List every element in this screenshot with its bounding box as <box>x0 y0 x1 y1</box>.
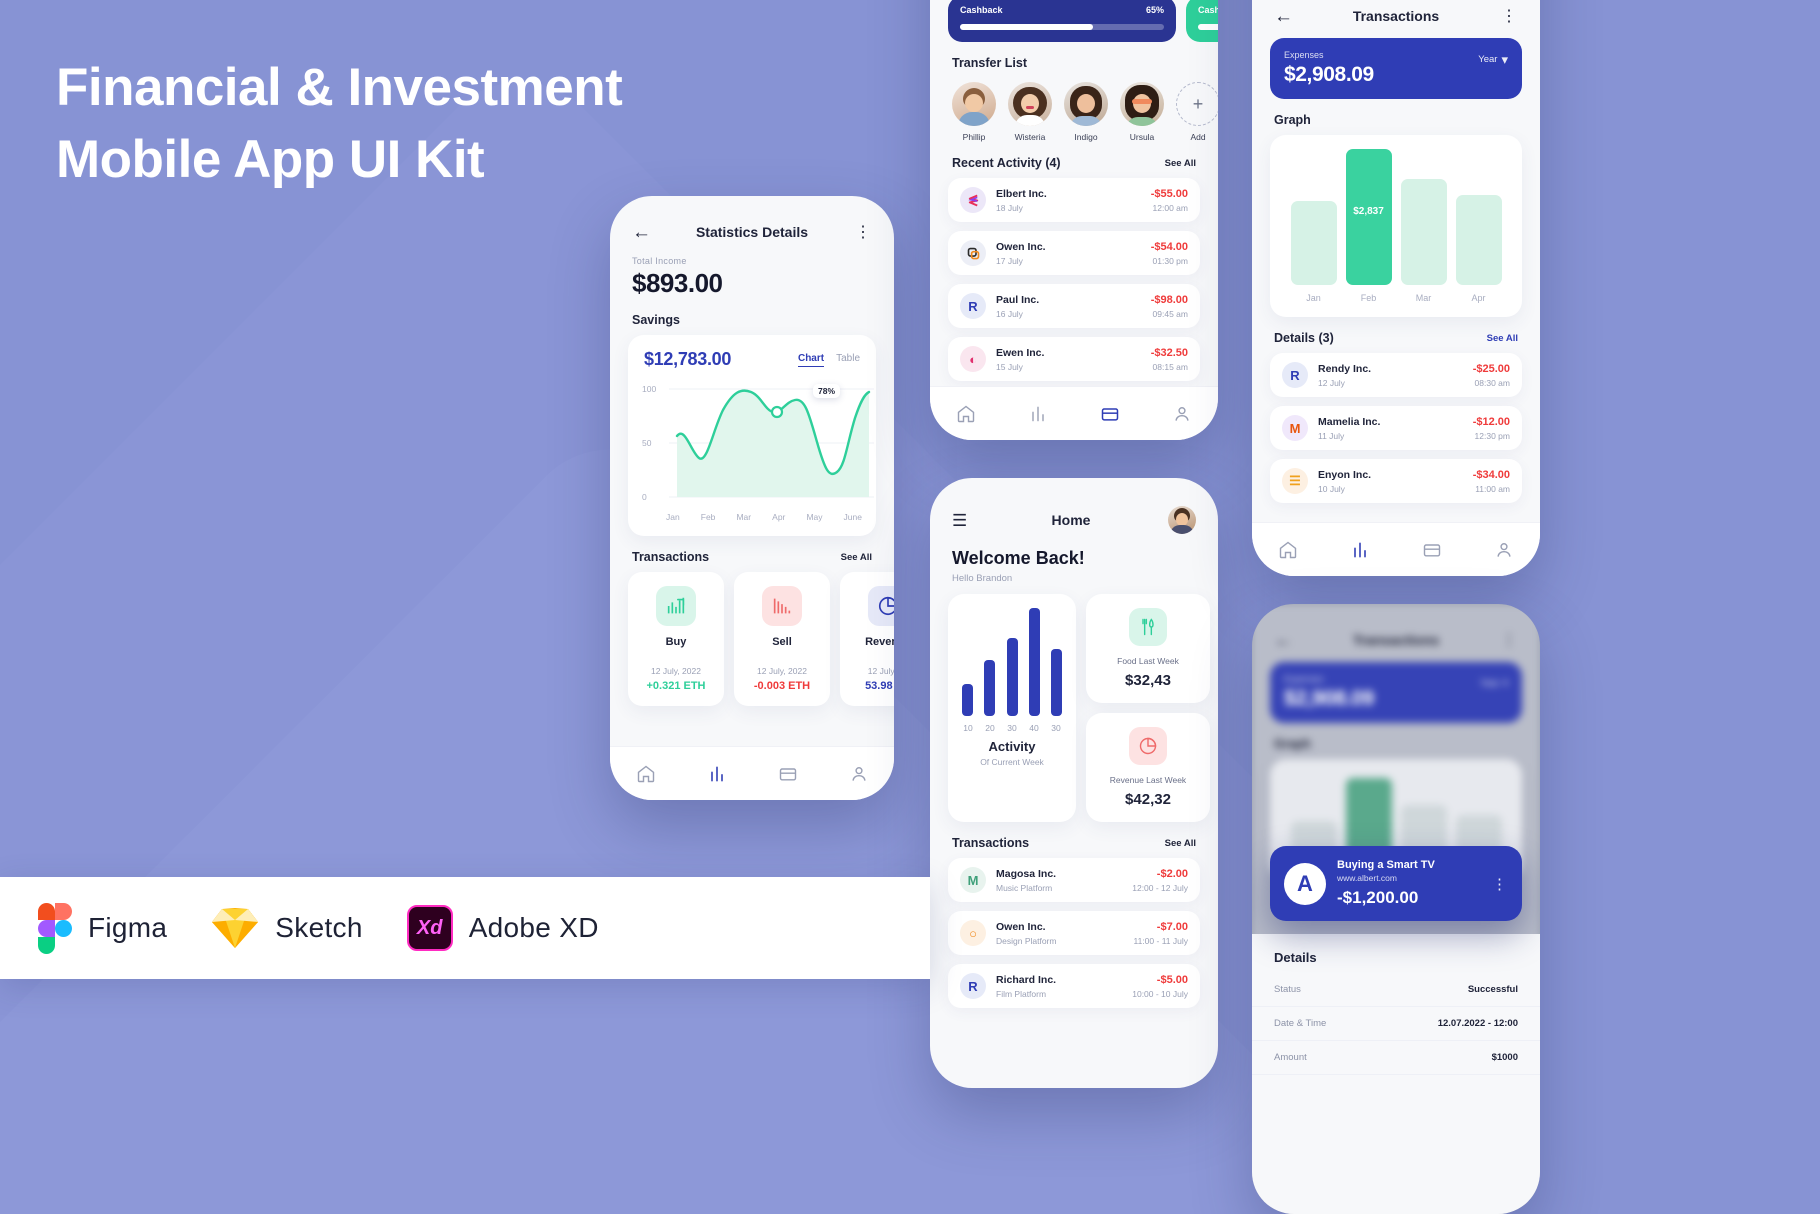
home-cards: 10 20 30 40 30 Activity Of Current Week <box>930 584 1218 822</box>
transaction-platform: Design Platform <box>996 936 1124 946</box>
activity-name: Paul Inc. <box>996 294 1141 306</box>
card-icon[interactable] <box>1100 404 1120 424</box>
transfer-contacts: Phillip Wisteria Indigo <box>930 78 1218 142</box>
food-amount: $32,43 <box>1094 672 1202 689</box>
transaction-amount: -$2.00 <box>1132 868 1188 880</box>
avatar-woman-3 <box>1120 82 1164 126</box>
activity-name: Owen Inc. <box>996 241 1141 253</box>
activity-row[interactable]: R Paul Inc. 16 July -$98.00 09:45 am <box>948 284 1200 328</box>
transaction-value: -0.003 ETH <box>742 680 822 692</box>
period-selector[interactable]: Year▾ <box>1480 678 1508 689</box>
graph-label: Graph <box>1252 99 1540 135</box>
detail-row[interactable]: ☰ Enyon Inc. 10 July -$34.00 11:00 am <box>1270 459 1522 503</box>
activity-time: 12:00 am <box>1151 203 1188 213</box>
profile-icon[interactable] <box>1172 404 1192 424</box>
graph-label: Graph <box>1252 723 1540 759</box>
card-icon[interactable] <box>1422 540 1442 560</box>
expenses-label: Expenses <box>1284 50 1478 60</box>
activity-date: 18 July <box>996 203 1141 213</box>
magosa-logo: M <box>960 867 986 893</box>
stats-icon[interactable] <box>1028 404 1048 424</box>
transaction-date: 12 July, 2022 <box>636 666 716 676</box>
detail-date: 11 July <box>1318 431 1463 441</box>
tab-table[interactable]: Table <box>836 353 860 364</box>
y-tick-50: 50 <box>642 438 651 448</box>
contact-name: Add <box>1176 132 1218 142</box>
activity-bar-chart <box>958 608 1066 716</box>
bottom-nav[interactable] <box>610 746 894 800</box>
cutlery-icon <box>1129 608 1167 646</box>
x-label: 30 <box>1048 723 1064 733</box>
enyon-logo: ☰ <box>1282 468 1308 494</box>
transaction-platform: Film Platform <box>996 989 1122 999</box>
graph-card: $2,837 Jan Feb Mar Apr <box>1270 135 1522 317</box>
activity-amount: -$54.00 <box>1151 241 1188 253</box>
bar-mar <box>1401 179 1447 285</box>
x-tick-apr: Apr <box>1456 293 1502 303</box>
welcome-subtitle: Hello Brandon <box>930 569 1218 584</box>
period-label: Year <box>1478 54 1497 65</box>
chart-tabs[interactable]: Chart Table <box>798 353 860 367</box>
phone-home: ☰ Home Welcome Back! Hello Brandon 10 20… <box>930 478 1218 1088</box>
field-key: Date & Time <box>1274 1018 1438 1029</box>
bar-jan <box>1291 201 1337 285</box>
field-value: 12.07.2022 - 12:00 <box>1438 1018 1518 1029</box>
cashback-label: Cashback <box>960 5 1003 15</box>
activity-date: 17 July <box>996 256 1141 266</box>
x-tick-apr: Apr <box>772 512 785 522</box>
transaction-card-buy[interactable]: Buy 12 July, 2022 +0.321 ETH <box>628 572 724 706</box>
revenue-card[interactable]: Revenue Last Week $42,32 <box>1086 713 1210 822</box>
menu-icon[interactable]: ⋮ <box>1496 630 1518 650</box>
hero-line-1: Financial & Investment <box>56 52 622 124</box>
detail-field-row: Date & Time 12.07.2022 - 12:00 <box>1252 1007 1540 1041</box>
see-all-link[interactable]: See All <box>1487 333 1518 344</box>
profile-icon[interactable] <box>1494 540 1514 560</box>
transaction-name: Richard Inc. <box>996 974 1122 986</box>
transactions-header: Transactions See All <box>930 822 1218 858</box>
y-tick-0: 0 <box>642 492 647 502</box>
transaction-time: 10:00 - 10 July <box>1132 989 1188 999</box>
detail-amount: -$12.00 <box>1473 416 1510 428</box>
x-tick-may: May <box>806 512 822 522</box>
back-icon[interactable]: ← <box>1274 631 1296 650</box>
activity-subtitle: Of Current Week <box>958 757 1066 767</box>
chevron-down-icon: ▾ <box>1501 56 1508 64</box>
transaction-date: 12 July, 2022 <box>742 666 822 676</box>
cashback-banner-2[interactable]: Cashback <box>1186 0 1218 42</box>
menu-icon[interactable]: ⋮ <box>1492 875 1508 893</box>
avatar[interactable] <box>1168 506 1196 534</box>
detail-title: Buying a Smart TV <box>1337 859 1435 871</box>
transactions-header: Transactions See All <box>610 536 894 572</box>
richard-logo: R <box>960 973 986 999</box>
transactions-label: Transactions <box>632 550 841 564</box>
card-icon[interactable] <box>778 764 798 784</box>
transaction-cards: Buy 12 July, 2022 +0.321 ETH Sell 12 Jul… <box>610 572 894 706</box>
activity-time: 01:30 pm <box>1151 256 1188 266</box>
avatar-woman-1 <box>1008 82 1052 126</box>
detail-amount: -$25.00 <box>1473 363 1510 375</box>
stats-icon[interactable] <box>707 764 727 784</box>
food-card[interactable]: Food Last Week $32,43 <box>1086 594 1210 703</box>
rendy-logo: R <box>1282 362 1308 388</box>
recent-activity-label: Recent Activity (4) <box>952 156 1165 170</box>
transaction-name: Buy <box>636 636 716 648</box>
detail-date: 12 July <box>1318 378 1463 388</box>
expenses-label: Expenses <box>1284 674 1480 684</box>
savings-chart-card: $12,783.00 Chart Table 100 50 0 <box>628 335 876 536</box>
page-title: Statistics Details <box>654 224 850 240</box>
period-selector[interactable]: Year ▾ <box>1478 54 1508 65</box>
back-icon[interactable]: ← <box>632 223 654 242</box>
home-icon[interactable] <box>956 404 976 424</box>
contact-name: Indigo <box>1064 132 1108 142</box>
savings-value: $12,783.00 <box>644 349 798 370</box>
savings-label: Savings <box>610 299 894 335</box>
contact-phillip[interactable]: Phillip <box>952 82 996 142</box>
detail-sheet: Details Status Successful Date & Time 12… <box>1252 934 1540 1214</box>
food-label: Food Last Week <box>1094 656 1202 666</box>
detail-overlay-card[interactable]: A Buying a Smart TV www.albert.com -$1,2… <box>1270 846 1522 921</box>
cashback-banner[interactable]: Cashback 65% <box>948 0 1176 42</box>
mamelia-logo: M <box>1282 415 1308 441</box>
activity-amount: -$98.00 <box>1151 294 1188 306</box>
transaction-row[interactable]: ○ Owen Inc. Design Platform -$7.00 11:00… <box>948 911 1200 955</box>
menu-icon[interactable]: ⋮ <box>1496 6 1518 26</box>
cashback-percent: 65% <box>1146 5 1164 15</box>
activity-chart-card: 10 20 30 40 30 Activity Of Current Week <box>948 594 1076 822</box>
detail-time: 08:30 am <box>1473 378 1510 388</box>
bar-apr <box>1456 195 1502 285</box>
bar-value-label: $2,837 <box>1353 206 1384 217</box>
transaction-row[interactable]: R Richard Inc. Film Platform -$5.00 10:0… <box>948 964 1200 1008</box>
expenses-amount: $2,908.09 <box>1284 63 1478 87</box>
transfer-list-label: Transfer List <box>930 42 1218 78</box>
transaction-time: 12:00 - 12 July <box>1132 883 1188 893</box>
sketch-logo-icon <box>211 907 259 949</box>
transaction-time: 11:00 - 11 July <box>1134 936 1189 946</box>
add-contact-icon[interactable]: + <box>1176 82 1218 126</box>
detail-name: Enyon Inc. <box>1318 469 1463 481</box>
details-header: Details (3) See All <box>1252 317 1540 353</box>
phone-transfer-activity: Cashback 65% Cashback Transfer List Phil… <box>930 0 1218 440</box>
bar-chart-down-icon <box>762 586 802 626</box>
see-all-link[interactable]: See All <box>1165 158 1196 169</box>
detail-field-row: Status Successful <box>1252 973 1540 1007</box>
graph-x-axis: Jan Feb Mar Apr <box>1270 285 1522 317</box>
transaction-platform: Music Platform <box>996 883 1122 893</box>
adobe-xd-logo-icon: Xd <box>407 905 453 951</box>
x-tick-feb: Feb <box>1346 293 1392 303</box>
activity-name: Ewen Inc. <box>996 347 1141 359</box>
detail-row[interactable]: M Mamelia Inc. 11 July -$12.00 12:30 pm <box>1270 406 1522 450</box>
x-label: 40 <box>1026 723 1042 733</box>
transaction-name: Sell <box>742 636 822 648</box>
detail-amount: -$34.00 <box>1473 469 1510 481</box>
detail-row[interactable]: R Rendy Inc. 12 July -$25.00 08:30 am <box>1270 353 1522 397</box>
elbert-logo <box>960 187 986 213</box>
transaction-amount: -$5.00 <box>1132 974 1188 986</box>
transactions-header-bar: ← Transactions ⋮ <box>1252 0 1540 30</box>
pie-chart-icon <box>1129 727 1167 765</box>
contact-indigo[interactable]: Indigo <box>1064 82 1108 142</box>
pie-chart-icon <box>868 586 894 626</box>
total-income-label: Total Income <box>610 246 894 266</box>
phone-statistics-details: ← Statistics Details ⋮ Total Income $893… <box>610 196 894 800</box>
activity-title: Activity <box>958 739 1066 754</box>
field-value: $1000 <box>1492 1052 1518 1063</box>
brand-avatar: A <box>1284 863 1326 905</box>
activity-row[interactable]: Elbert Inc. 18 July -$55.00 12:00 am <box>948 178 1200 222</box>
menu-icon[interactable]: ⋮ <box>850 222 872 242</box>
avatar-man-1 <box>952 82 996 126</box>
savings-x-axis: Jan Feb Mar Apr May June <box>628 508 876 536</box>
transaction-name: Revenue <box>848 636 894 648</box>
details-label: Details <box>1252 934 1540 973</box>
contact-name: Ursula <box>1120 132 1164 142</box>
total-income-value: $893.00 <box>610 266 894 299</box>
field-key: Amount <box>1274 1052 1492 1063</box>
expenses-card-behind: Expenses $2,908.09 Year▾ <box>1270 662 1522 723</box>
phone-transactions: ← Transactions ⋮ Expenses $2,908.09 Year… <box>1252 0 1540 576</box>
x-tick-jan: Jan <box>666 512 680 522</box>
transaction-card-revenue[interactable]: Revenue 12 July, 20 53.98 US <box>840 572 894 706</box>
contact-wisteria[interactable]: Wisteria <box>1008 82 1052 142</box>
contact-ursula[interactable]: Ursula <box>1120 82 1164 142</box>
transaction-name: Magosa Inc. <box>996 868 1122 880</box>
field-value: Successful <box>1468 984 1518 995</box>
activity-name: Elbert Inc. <box>996 188 1141 200</box>
home-icon[interactable] <box>636 764 656 784</box>
bar-feb: $2,837 <box>1346 149 1392 285</box>
chart-tooltip: 78% <box>813 384 840 398</box>
tool-figma[interactable]: Figma <box>16 903 189 953</box>
recent-activity-header: Recent Activity (4) See All <box>930 142 1218 178</box>
page-title: Transactions <box>1296 8 1496 24</box>
detail-url: www.albert.com <box>1337 873 1435 883</box>
detail-amount: -$1,200.00 <box>1337 888 1435 908</box>
activity-date: 15 July <box>996 362 1141 372</box>
transactions-label: Transactions <box>952 836 1165 850</box>
stats-icon[interactable] <box>1350 540 1370 560</box>
see-all-link[interactable]: See All <box>1165 838 1196 849</box>
detail-date: 10 July <box>1318 484 1463 494</box>
savings-area-chart: 100 50 0 78% <box>636 380 868 508</box>
detail-name: Mamelia Inc. <box>1318 416 1463 428</box>
expenses-amount: $2,908.09 <box>1284 687 1480 711</box>
bottom-nav[interactable] <box>1252 522 1540 576</box>
activity-time: 09:45 am <box>1151 309 1188 319</box>
transaction-card-sell[interactable]: Sell 12 July, 2022 -0.003 ETH <box>734 572 830 706</box>
paul-logo: R <box>960 293 986 319</box>
transaction-date: 12 July, 20 <box>848 666 894 676</box>
tool-label: Adobe XD <box>469 912 599 944</box>
activity-row[interactable]: ◐ Ewen Inc. 15 July -$32.50 08:15 am <box>948 337 1200 381</box>
bar-chart-up-icon <box>656 586 696 626</box>
figma-logo-icon <box>38 903 72 953</box>
contact-add[interactable]: + Add <box>1176 82 1218 142</box>
hero-headline: Financial & Investment Mobile App UI Kit <box>56 52 622 196</box>
activity-time: 08:15 am <box>1151 362 1188 372</box>
transaction-value: 53.98 US <box>848 680 894 692</box>
activity-amount: -$32.50 <box>1151 347 1188 359</box>
revenue-label: Revenue Last Week <box>1094 775 1202 785</box>
field-key: Status <box>1274 984 1468 995</box>
detail-field-row: Amount $1000 <box>1252 1041 1540 1075</box>
x-tick-jan: Jan <box>1291 293 1337 303</box>
back-icon[interactable]: ← <box>1274 7 1296 26</box>
transaction-row[interactable]: M Magosa Inc. Music Platform -$2.00 12:0… <box>948 858 1200 902</box>
x-label: 10 <box>960 723 976 733</box>
activity-date: 16 July <box>996 309 1141 319</box>
tool-label: Sketch <box>275 912 362 944</box>
detail-time: 11:00 am <box>1473 484 1510 494</box>
owen-logo <box>960 240 986 266</box>
page-title: Transactions <box>1296 632 1496 648</box>
contact-name: Phillip <box>952 132 996 142</box>
hero-line-2: Mobile App UI Kit <box>56 124 622 196</box>
avatar-woman-2 <box>1064 82 1108 126</box>
page-title: Home <box>974 512 1168 528</box>
x-tick-mar: Mar <box>1401 293 1447 303</box>
detail-name: Rendy Inc. <box>1318 363 1463 375</box>
cashback-label-2: Cashback <box>1198 5 1218 15</box>
expenses-bar-chart: $2,837 <box>1270 135 1522 285</box>
transaction-name: Owen Inc. <box>996 921 1124 933</box>
transaction-value: +0.321 ETH <box>636 680 716 692</box>
owen-logo: ○ <box>960 920 986 946</box>
bottom-nav[interactable] <box>930 386 1218 440</box>
x-tick-mar: Mar <box>736 512 751 522</box>
hamburger-icon[interactable]: ☰ <box>952 512 974 529</box>
tool-sketch[interactable]: Sketch <box>189 907 384 949</box>
details-label: Details (3) <box>1274 331 1487 345</box>
ewen-logo: ◐ <box>960 346 986 372</box>
x-tick-june: June <box>844 512 862 522</box>
transaction-amount: -$7.00 <box>1134 921 1189 933</box>
see-all-link[interactable]: See All <box>841 552 872 563</box>
home-icon[interactable] <box>1278 540 1298 560</box>
profile-icon[interactable] <box>849 764 869 784</box>
tab-chart[interactable]: Chart <box>798 353 824 367</box>
tools-bar: Figma Sketch Xd Adobe XD <box>0 877 930 979</box>
activity-row[interactable]: Owen Inc. 17 July -$54.00 01:30 pm <box>948 231 1200 275</box>
expenses-card: Expenses $2,908.09 Year ▾ <box>1270 38 1522 99</box>
x-label: 20 <box>982 723 998 733</box>
y-tick-100: 100 <box>642 384 656 394</box>
welcome-title: Welcome Back! <box>930 538 1218 569</box>
detail-time: 12:30 pm <box>1473 431 1510 441</box>
tool-label: Figma <box>88 912 167 944</box>
tool-adobe-xd[interactable]: Xd Adobe XD <box>385 905 621 951</box>
revenue-amount: $42,32 <box>1094 791 1202 808</box>
phone-transaction-detail: ← Transactions ⋮ Expenses $2,908.09 Year… <box>1252 604 1540 1214</box>
x-label: 30 <box>1004 723 1020 733</box>
activity-x-labels: 10 20 30 40 30 <box>958 716 1066 733</box>
x-tick-feb: Feb <box>701 512 716 522</box>
activity-amount: -$55.00 <box>1151 188 1188 200</box>
contact-name: Wisteria <box>1008 132 1052 142</box>
